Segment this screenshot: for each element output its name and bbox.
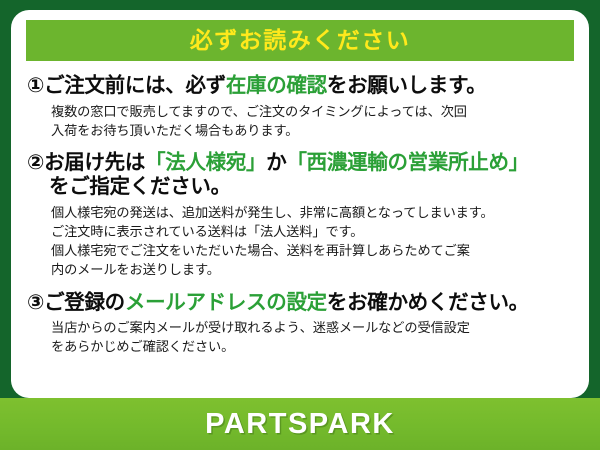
item-3-emphasis: メールアドレスの設定 bbox=[125, 291, 327, 314]
banner-title: 必ずお読みください bbox=[190, 29, 411, 52]
brand-name: PARTSPARK bbox=[205, 410, 395, 439]
notice-banner: 必ずお読みください bbox=[26, 20, 574, 61]
item-1-number: ① bbox=[27, 74, 44, 97]
notice-items: ①ご注文前には、必ず在庫の確認をお願いします。 複数の窓口で販売してますので、ご… bbox=[25, 74, 575, 357]
notice-card: 必ずお読みください ①ご注文前には、必ず在庫の確認をお願いします。 複数の窓口で… bbox=[11, 10, 589, 398]
item-1-emphasis: 在庫の確認 bbox=[226, 74, 327, 97]
item-1-heading: ①ご注文前には、必ず在庫の確認をお願いします。 bbox=[27, 74, 573, 99]
notice-item-3: ③ご登録のメールアドレスの設定をお確かめください。 当店からのご案内メールが受け… bbox=[27, 291, 573, 357]
item-1-subtext: 複数の窓口で販売してますので、ご注文のタイミングによっては、次回 入荷をお待ち頂… bbox=[27, 102, 573, 140]
item-2-number: ② bbox=[27, 151, 44, 174]
item-3-subtext: 当店からのご案内メールが受け取れるよう、迷惑メールなどの受信設定 をあらかじめご… bbox=[27, 318, 573, 356]
item-3-head-post: をお確かめください。 bbox=[327, 291, 529, 314]
notice-poster: 必ずお読みください ①ご注文前には、必ず在庫の確認をお願いします。 複数の窓口で… bbox=[0, 0, 600, 450]
notice-item-1: ①ご注文前には、必ず在庫の確認をお願いします。 複数の窓口で販売してますので、ご… bbox=[27, 74, 573, 140]
brand-footer: PARTSPARK bbox=[0, 398, 600, 450]
item-2-head-pre: お届け先は bbox=[44, 151, 145, 174]
item-2-emphasis-1: 「法人様宛」 bbox=[145, 151, 266, 174]
item-2-head-mid: か bbox=[266, 151, 286, 174]
item-3-number: ③ bbox=[27, 291, 44, 314]
notice-item-2: ②お届け先は「法人様宛」か「西濃運輸の営業所止め」をご指定ください。 個人様宅宛… bbox=[27, 151, 573, 280]
item-2-emphasis-2: 「西濃運輸の営業所止め」 bbox=[286, 151, 528, 174]
item-1-head-pre: ご注文前には、必ず bbox=[44, 74, 226, 97]
item-2-subtext: 個人様宅宛の発送は、追加送料が発生し、非常に高額となってしまいます。 ご注文時に… bbox=[27, 203, 573, 280]
item-1-head-post: をお願いします。 bbox=[327, 74, 487, 97]
item-3-heading: ③ご登録のメールアドレスの設定をお確かめください。 bbox=[27, 291, 573, 316]
item-2-heading-line2: をご指定ください。 bbox=[27, 175, 573, 200]
item-2-heading: ②お届け先は「法人様宛」か「西濃運輸の営業所止め」をご指定ください。 bbox=[27, 151, 573, 200]
item-3-head-pre: ご登録の bbox=[44, 291, 125, 314]
